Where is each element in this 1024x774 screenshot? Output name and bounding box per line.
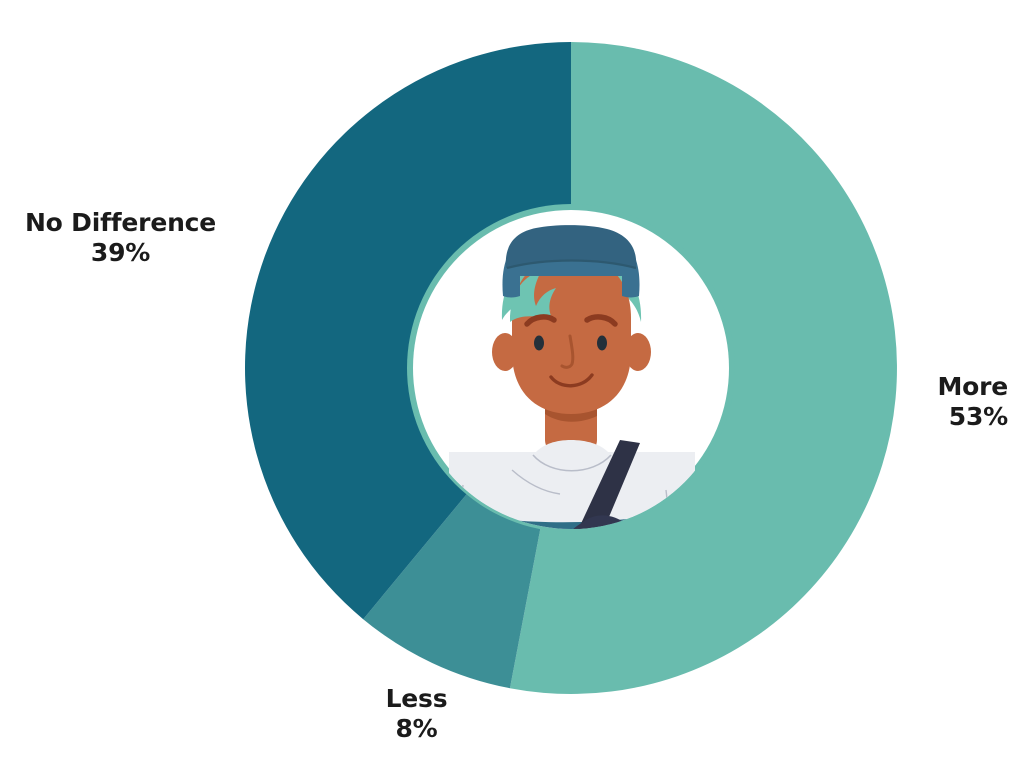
label-no-difference: No Difference 39% [18,208,223,267]
label-more: More 53% [888,372,1008,431]
label-less-value: 8% [324,714,509,744]
chart-canvas: No Difference 39% More 53% Less 8% [0,0,1024,774]
label-less: Less 8% [324,684,509,743]
label-no-difference-name: No Difference [18,208,223,238]
label-more-name: More [888,372,1008,402]
label-less-name: Less [324,684,509,714]
avatar-eye-right [597,336,607,351]
donut-chart [0,0,1024,774]
label-no-difference-value: 39% [18,238,223,268]
label-more-value: 53% [888,402,1008,432]
avatar-eye-left [534,336,544,351]
